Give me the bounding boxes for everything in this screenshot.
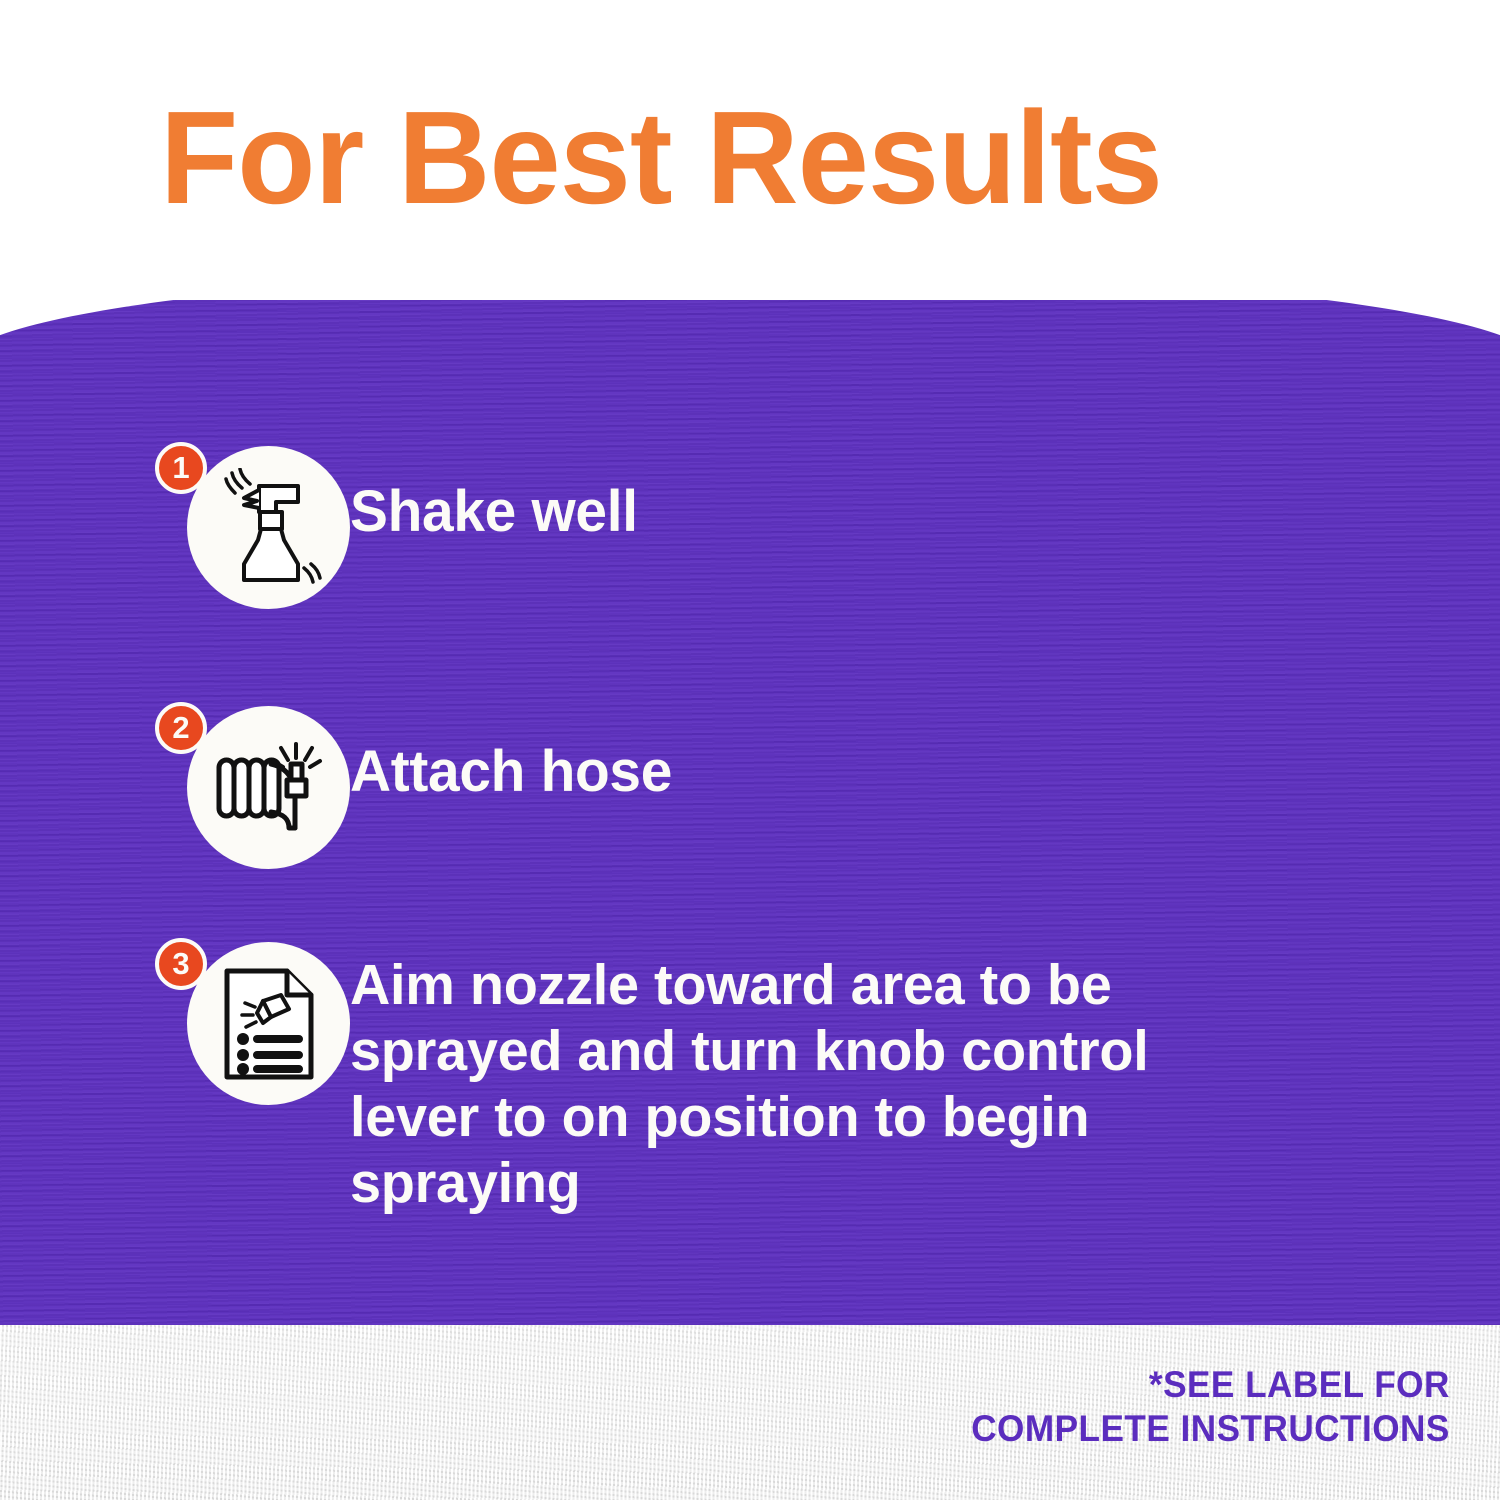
steps-list: 1 Shake well (0, 270, 1500, 1325)
footer-disclaimer: *SEE LABEL FOR COMPLETE INSTRUCTIONS (971, 1363, 1450, 1450)
page-title: For Best Results (160, 92, 1162, 224)
step-icon-group: 2 (155, 702, 350, 874)
list-item: 3 Aim nozzle toward area to be sprayed a… (155, 938, 1335, 1216)
list-item: 2 Attach hose (155, 702, 1335, 874)
infographic-card: For Best Results (0, 0, 1500, 1500)
label-document-spray-icon (187, 942, 350, 1105)
header-band: For Best Results (0, 0, 1500, 300)
step-icon-group: 3 (155, 938, 350, 1110)
list-item: 1 Shake well (155, 442, 1335, 614)
footer-line-2: COMPLETE INSTRUCTIONS (971, 1407, 1450, 1451)
spray-bottle-shake-icon (187, 446, 350, 609)
step-label: Attach hose (350, 702, 1315, 806)
step-badge: 3 (155, 938, 207, 990)
step-badge: 1 (155, 442, 207, 494)
coiled-hose-nozzle-icon (187, 706, 350, 869)
footer-band: *SEE LABEL FOR COMPLETE INSTRUCTIONS (0, 1325, 1500, 1500)
footer-line-1: *SEE LABEL FOR (971, 1363, 1450, 1407)
step-label: Shake well (350, 442, 1315, 546)
step-icon-group: 1 (155, 442, 350, 614)
step-badge: 2 (155, 702, 207, 754)
step-label: Aim nozzle toward area to be sprayed and… (350, 938, 1261, 1216)
